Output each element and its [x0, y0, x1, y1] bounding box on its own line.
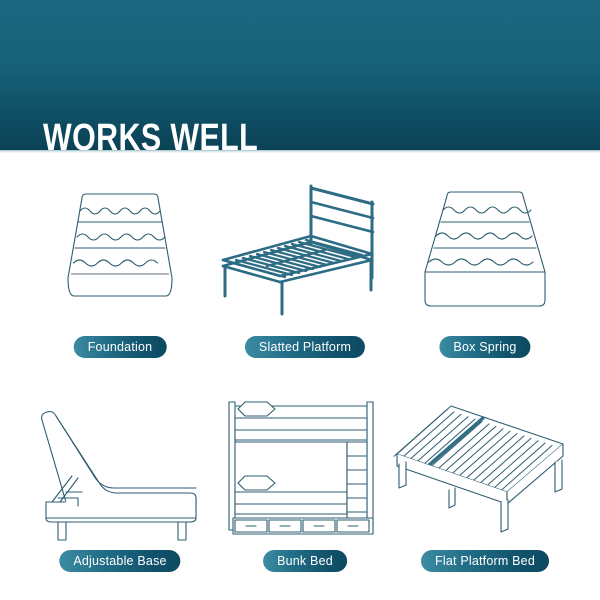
base-label-slatted-platform: Slatted Platform	[245, 336, 365, 358]
base-card-adjustable-base[interactable]: Adjustable Base	[20, 392, 220, 600]
base-label-adjustable-base: Adjustable Base	[59, 550, 180, 572]
base-label-box-spring: Box Spring	[439, 336, 530, 358]
works-well-with-these-bases-graphic: WORKS WELL WITH THESE BASES	[0, 0, 600, 600]
slatted-platform-bed-icon	[205, 178, 405, 338]
base-card-slatted-platform[interactable]: Slatted Platform	[205, 178, 405, 388]
flat-platform-bed-icon	[385, 392, 585, 552]
mattress-foundation-icon	[20, 178, 220, 338]
page-title-line-1: WORKS WELL	[43, 116, 350, 150]
header-divider	[0, 150, 600, 153]
base-card-flat-platform-bed[interactable]: Flat Platform Bed	[385, 392, 585, 600]
base-card-bunk-bed[interactable]: Bunk Bed	[205, 392, 405, 600]
page-title: WORKS WELL WITH THESE BASES	[43, 28, 350, 150]
base-label-flat-platform-bed: Flat Platform Bed	[421, 550, 549, 572]
header-banner: WORKS WELL WITH THESE BASES	[0, 0, 600, 150]
bunk-bed-icon	[205, 392, 405, 552]
base-card-box-spring[interactable]: Box Spring	[385, 178, 585, 388]
base-card-foundation[interactable]: Foundation	[20, 178, 220, 388]
adjustable-base-icon	[20, 392, 220, 552]
box-spring-icon	[385, 178, 585, 338]
base-label-foundation: Foundation	[74, 336, 167, 358]
base-label-bunk-bed: Bunk Bed	[263, 550, 347, 572]
